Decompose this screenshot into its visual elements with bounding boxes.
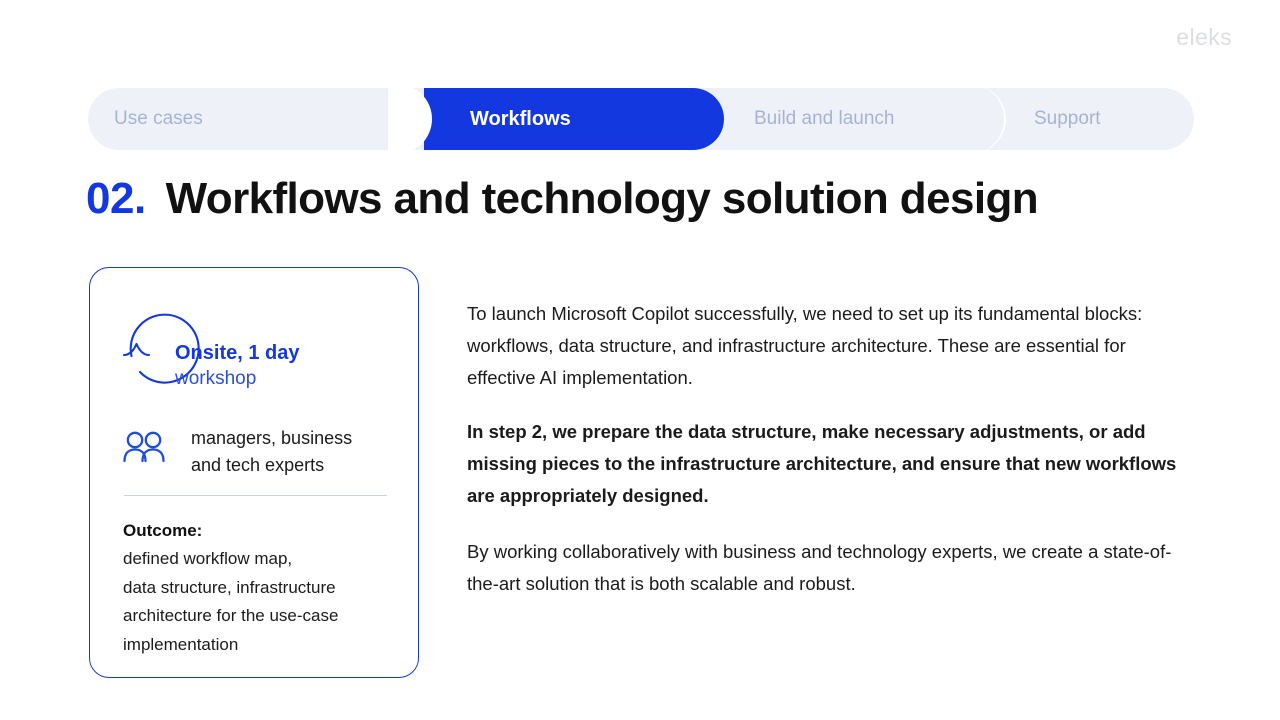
- tab-label: Support: [1034, 108, 1101, 130]
- page-title-text: Workflows and technology solution design: [166, 174, 1038, 224]
- outcome-line-1: defined workflow map,: [123, 545, 413, 574]
- workshop-text: Onsite, 1 day workshop: [175, 340, 415, 392]
- tab-use-cases[interactable]: Use cases: [88, 88, 428, 150]
- info-card: Onsite, 1 day workshop managers, busines…: [89, 267, 419, 678]
- tab-support[interactable]: Support: [1004, 88, 1194, 150]
- outcome-line-2: data structure, infrastructure: [123, 574, 413, 603]
- audience-line-2: and tech experts: [191, 452, 352, 479]
- paragraph-highlight: In step 2, we prepare the data structure…: [467, 416, 1179, 512]
- outcome-line-4: implementation: [123, 631, 413, 660]
- workshop-type: workshop: [175, 366, 415, 392]
- workshop-duration: Onsite, 1 day: [175, 340, 415, 366]
- workshop-section: Onsite, 1 day workshop: [90, 290, 420, 400]
- card-divider: [124, 495, 387, 496]
- audience-text: managers, business and tech experts: [191, 425, 352, 479]
- tab-label: Use cases: [114, 108, 203, 130]
- tab-workflows-active[interactable]: Workflows: [424, 88, 724, 150]
- body-copy: To launch Microsoft Copilot successfully…: [467, 298, 1179, 600]
- paragraph-conclusion: By working collaboratively with business…: [467, 536, 1179, 600]
- people-icon: [123, 431, 167, 468]
- outcome-title: Outcome:: [123, 516, 413, 545]
- brand-logo: eleks: [1176, 24, 1232, 51]
- tab-build-and-launch[interactable]: Build and launch: [724, 88, 1004, 150]
- audience-section: managers, business and tech experts: [123, 425, 413, 479]
- paragraph-intro: To launch Microsoft Copilot successfully…: [467, 298, 1179, 394]
- page-title: 02. Workflows and technology solution de…: [86, 174, 1038, 224]
- outcome-section: Outcome: defined workflow map, data stru…: [123, 516, 413, 659]
- tab-label: Workflows: [470, 108, 571, 131]
- page-title-number: 02.: [86, 174, 146, 224]
- tab-label: Build and launch: [754, 108, 895, 130]
- audience-line-1: managers, business: [191, 425, 352, 452]
- tab-bar: Use cases Build and launch Support Workf…: [88, 88, 1194, 150]
- outcome-line-3: architecture for the use-case: [123, 602, 413, 631]
